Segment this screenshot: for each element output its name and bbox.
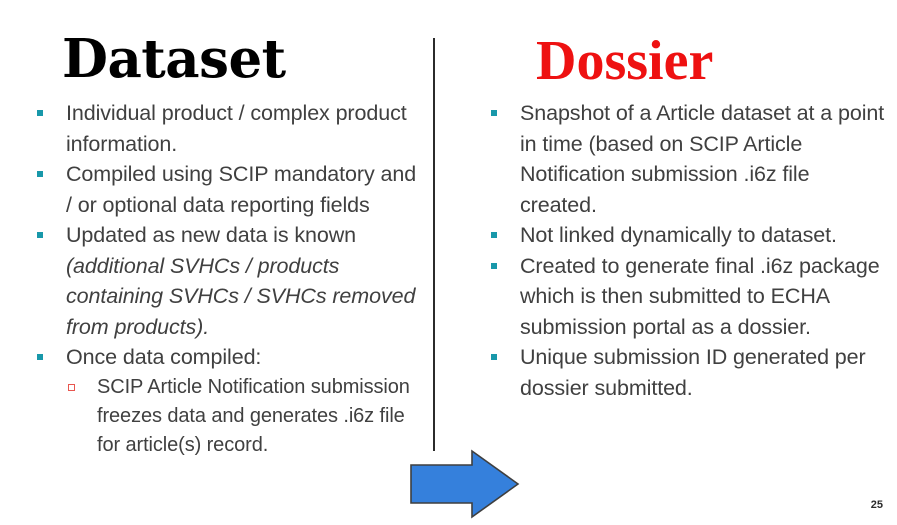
list-item-text: Snapshot of a Article dataset at a point… — [520, 101, 884, 217]
list-item-text: (additional SVHCs / products containing … — [66, 254, 415, 339]
open-square-bullet-icon — [68, 384, 75, 391]
list-item-text: Once data compiled: — [66, 345, 261, 369]
square-bullet-icon — [491, 232, 497, 238]
dataset-sub-bullet-list: SCIP Article Notification submission fre… — [66, 373, 421, 460]
square-bullet-icon — [491, 263, 497, 269]
square-bullet-icon — [37, 171, 43, 177]
square-bullet-icon — [37, 110, 43, 116]
list-item: Individual product / complex product inf… — [36, 98, 421, 159]
square-bullet-icon — [491, 110, 497, 116]
left-column: Dataset Individual product / complex pro… — [36, 0, 421, 525]
list-item-text: Updated as new data is known — [66, 223, 356, 247]
dossier-bullet-list: Snapshot of a Article dataset at a point… — [490, 98, 890, 403]
list-item: Snapshot of a Article dataset at a point… — [490, 98, 890, 220]
list-item: Created to generate final .i6z package w… — [490, 251, 890, 343]
list-item: Not linked dynamically to dataset. — [490, 220, 890, 251]
list-item: Unique submission ID generated per dossi… — [490, 342, 890, 403]
sub-list-item: SCIP Article Notification submission fre… — [66, 373, 421, 460]
list-item-text: Created to generate final .i6z package w… — [520, 254, 880, 339]
list-item-text: Individual product / complex product inf… — [66, 101, 407, 156]
page-title-dossier: Dossier — [536, 33, 713, 89]
dataset-bullet-list: Individual product / complex product inf… — [36, 98, 421, 460]
square-bullet-icon — [491, 354, 497, 360]
page-title-dataset: Dataset — [62, 33, 286, 86]
right-arrow-icon — [410, 449, 520, 519]
list-item-text: Not linked dynamically to dataset. — [520, 223, 837, 247]
page-number: 25 — [871, 499, 883, 511]
list-item-italic-note: (additional SVHCs / products containing … — [36, 251, 421, 343]
arrow-shape — [411, 451, 518, 517]
vertical-divider — [433, 38, 435, 451]
list-item: Compiled using SCIP mandatory and / or o… — [36, 159, 421, 220]
right-column: Dossier Snapshot of a Article dataset at… — [490, 0, 890, 525]
list-item: Updated as new data is known — [36, 220, 421, 251]
list-item-text: Unique submission ID generated per dossi… — [520, 345, 866, 400]
list-item-text: Compiled using SCIP mandatory and / or o… — [66, 162, 416, 217]
sub-list-item-text: SCIP Article Notification submission fre… — [97, 376, 410, 456]
square-bullet-icon — [37, 232, 43, 238]
slide-canvas: Dataset Individual product / complex pro… — [0, 0, 897, 525]
list-item: Once data compiled: SCIP Article Notific… — [36, 342, 421, 460]
square-bullet-icon — [37, 354, 43, 360]
